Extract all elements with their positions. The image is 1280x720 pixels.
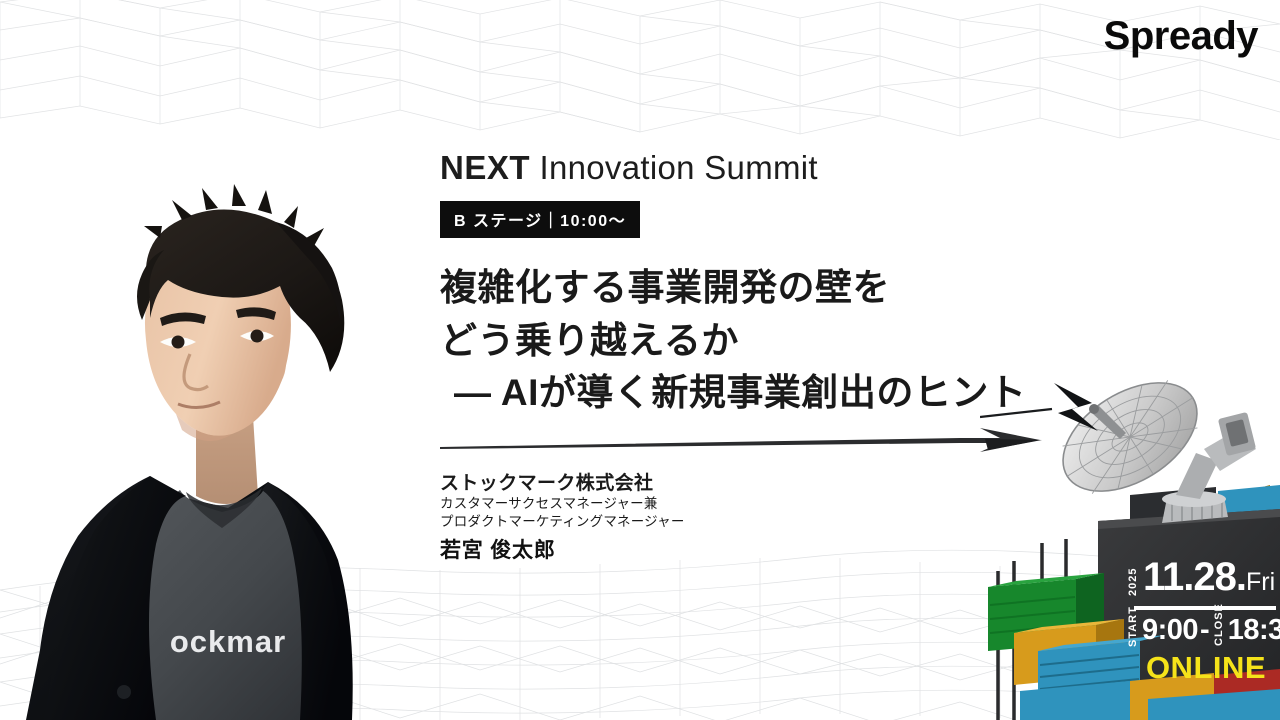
headline-line-2: どう乗り越えるか: [440, 315, 1090, 368]
event-title-rest: Innovation Summit: [530, 149, 818, 186]
shirt-logo-text: ockmar: [170, 624, 286, 659]
headline-line-1: 複雑化する事業開発の壁を: [440, 262, 1090, 315]
event-title-keyword: NEXT: [440, 149, 530, 186]
stage-time-badge: B ステージ｜10:00〜: [440, 201, 640, 238]
brand-logo: Spready: [1104, 14, 1258, 59]
arrow-divider: [440, 426, 1070, 460]
event-title: NEXT Innovation Summit: [440, 150, 1090, 186]
satellite-containers-illustration: [980, 375, 1280, 720]
speaker-photo: ockmar: [0, 104, 440, 720]
slide-canvas: ockmar: [0, 0, 1280, 720]
